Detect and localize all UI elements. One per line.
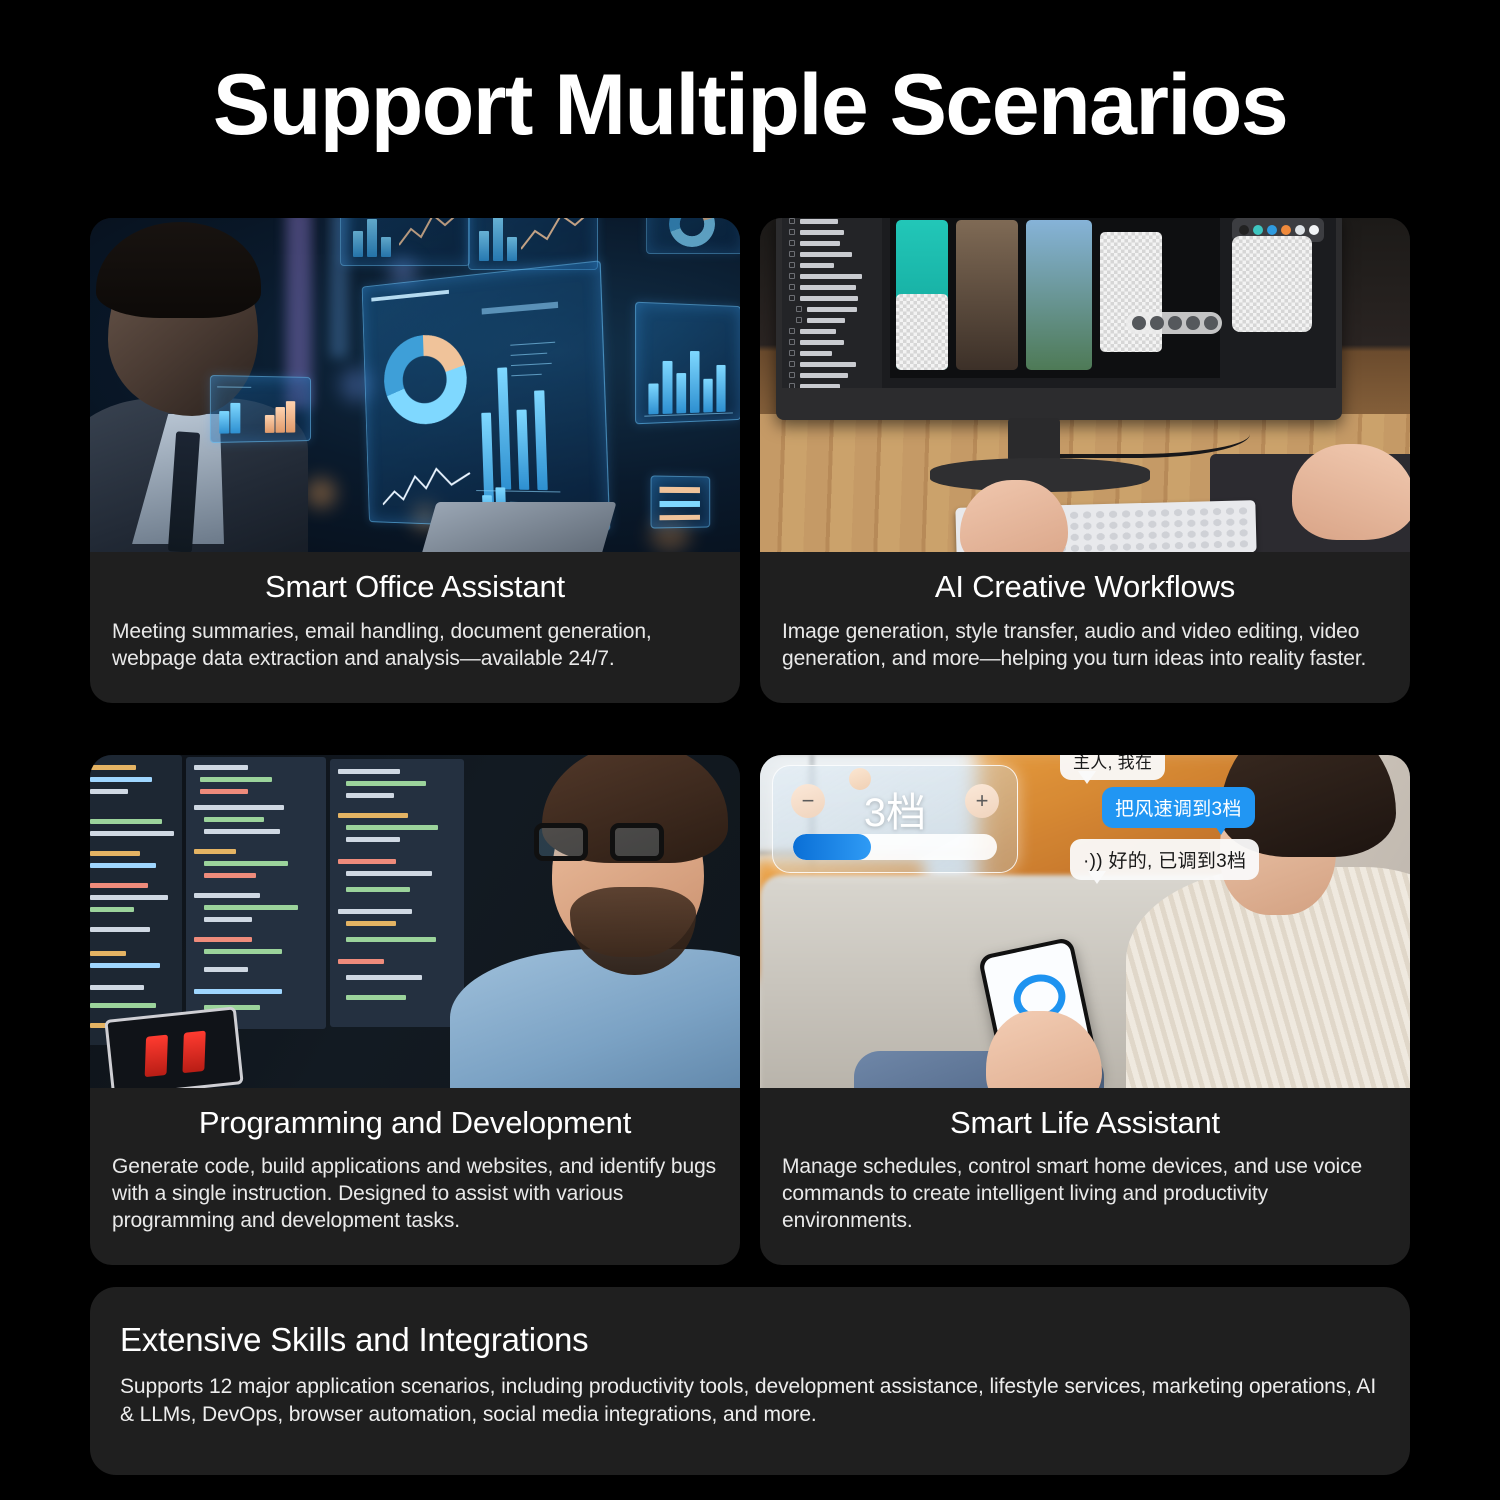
hud-panel-left-small: [210, 375, 311, 443]
tablet: [104, 1006, 243, 1088]
fan-speed-slider[interactable]: [793, 834, 997, 860]
page-title: Support Multiple Scenarios: [0, 62, 1500, 148]
card-image-smart-life-assistant: − 3档 + 主人, 我在 把风速调到3档 ·)) 好的, 已调到3档: [760, 755, 1410, 1088]
properties-panel: [1226, 218, 1330, 336]
banner-title: Extensive Skills and Integrations: [120, 1321, 1380, 1359]
slider-thumb[interactable]: [849, 768, 871, 790]
card-description: Manage schedules, control smart home dev…: [782, 1154, 1388, 1235]
designer-workstation-illustration: [760, 218, 1410, 552]
card-image-programming-and-development: [90, 755, 740, 1088]
card-smart-office-assistant[interactable]: Smart Office Assistant Meeting summaries…: [90, 218, 740, 703]
card-body-ai-creative-workflows: AI Creative Workflows Image generation, …: [760, 552, 1410, 703]
scenario-card-grid: Smart Office Assistant Meeting summaries…: [90, 218, 1410, 1265]
card-body-smart-life-assistant: Smart Life Assistant Manage schedules, c…: [760, 1088, 1410, 1265]
user-voice-command-bubble: 把风速调到3档: [1102, 787, 1255, 828]
canvas-toolbar[interactable]: [1126, 312, 1222, 334]
assistant-bubble-greeting: 主人, 我在: [1060, 755, 1165, 780]
card-smart-life-assistant[interactable]: − 3档 + 主人, 我在 把风速调到3档 ·)) 好的, 已调到3档: [760, 755, 1410, 1265]
banner-description: Supports 12 major application scenarios,…: [120, 1373, 1380, 1430]
smart-home-illustration: − 3档 + 主人, 我在 把风速调到3档 ·)) 好的, 已调到3档: [760, 755, 1410, 1088]
card-description: Generate code, build applications and we…: [112, 1154, 718, 1235]
hud-panel-right-small: [651, 475, 711, 528]
scenarios-page: Support Multiple Scenarios: [0, 0, 1500, 1500]
right-hand: [1292, 444, 1410, 540]
card-title: AI Creative Workflows: [782, 568, 1388, 607]
card-programming-and-development[interactable]: Programming and Development Generate cod…: [90, 755, 740, 1265]
card-image-ai-creative-workflows: [760, 218, 1410, 552]
design-app-screen: [782, 218, 1336, 388]
card-body-programming-and-development: Programming and Development Generate cod…: [90, 1088, 740, 1265]
monitor: [776, 218, 1342, 420]
layers-panel: [782, 218, 882, 388]
assistant-reply-bubble: ·)) 好的, 已调到3档: [1070, 839, 1259, 880]
card-body-smart-office-assistant: Smart Office Assistant Meeting summaries…: [90, 552, 740, 703]
code-monitor-center: [186, 757, 326, 1029]
card-description: Image generation, style transfer, audio …: [782, 619, 1388, 673]
hud-panel-right: [635, 302, 740, 425]
hud-panel-main-dashboard: [362, 260, 611, 531]
card-title: Programming and Development: [112, 1104, 718, 1143]
fan-speed-control-panel[interactable]: − 3档 +: [772, 765, 1018, 873]
code-monitor-right: [330, 759, 464, 1027]
developer-figure: [460, 755, 740, 1088]
developer-coding-illustration: [90, 755, 740, 1088]
donut-chart: [383, 332, 469, 425]
extensive-skills-banner: Extensive Skills and Integrations Suppor…: [90, 1287, 1410, 1475]
code-monitor-left: [90, 755, 182, 1045]
analyst-hologram-illustration: [90, 218, 740, 552]
eyeglasses-icon: [534, 823, 664, 863]
card-description: Meeting summaries, email handling, docum…: [112, 619, 718, 673]
card-ai-creative-workflows[interactable]: AI Creative Workflows Image generation, …: [760, 218, 1410, 703]
hud-panel-top-right: [646, 218, 740, 254]
card-title: Smart Office Assistant: [112, 568, 718, 607]
card-image-smart-office-assistant: [90, 218, 740, 552]
design-canvas: [890, 218, 1220, 378]
hud-panel-top-left: [340, 218, 470, 266]
card-title: Smart Life Assistant: [782, 1104, 1388, 1143]
increase-button[interactable]: +: [965, 784, 999, 818]
